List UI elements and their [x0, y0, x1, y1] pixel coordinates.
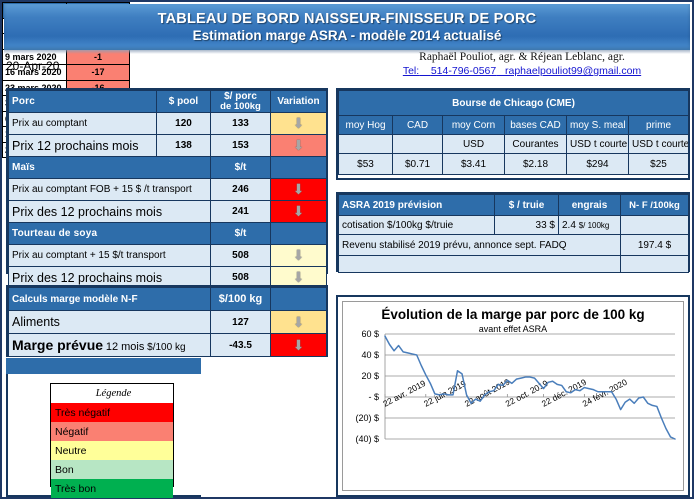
table-row-cme-values: $53 $0.71 $3.41 $2.18 $294 $25: [339, 154, 689, 175]
arrow-down-icon: ⬇: [293, 270, 305, 284]
arrow-down-icon: ⬇: [293, 182, 305, 196]
cme-header-moy-s-meal: moy S. meal: [567, 116, 629, 135]
asra-row-truie: 33 $: [495, 216, 559, 235]
marge-label-bold: Marge prévue: [12, 337, 103, 353]
col-pool: $ pool: [157, 91, 211, 113]
variation-cell: ⬇: [271, 201, 327, 223]
asra-row-nf-blank: [621, 216, 689, 235]
svg-text:22 déc. 2019: 22 déc. 2019: [540, 377, 588, 409]
legend-item: Bon: [51, 460, 173, 479]
mais-section-title: Maïs: [9, 157, 211, 179]
authors-label: Raphaël Pouliot, agr. & Réjean Leblanc, …: [354, 48, 690, 64]
legend-item: Très négatif: [51, 403, 173, 422]
table-row-cme-headers: moy Hog CAD moy Corn bases CAD moy S. me…: [339, 116, 689, 135]
asra-engrais-value: 2.4: [562, 220, 576, 231]
table-row: Prix au comptant FOB + 15 $ /t transport…: [9, 179, 327, 201]
asra-row-label: cotisation $/100kg $/truie: [339, 216, 495, 235]
asra-engrais-unit: $/ 100kg: [579, 221, 610, 230]
table-row-header-mais: Maïs $/t: [9, 157, 327, 179]
arrow-down-icon: ⬇: [293, 138, 305, 152]
row-label: Prix au comptant: [9, 113, 157, 135]
table-row-header-asra: ASRA 2019 prévision $ / truie engrais N-…: [339, 195, 689, 216]
chart-area: Évolution de la marge par porc de 100 kg…: [342, 301, 684, 491]
table-row: Aliments 127 ⬇: [9, 311, 327, 334]
calc-blank: [271, 288, 327, 311]
cme-value-cad: $0.71: [393, 154, 443, 175]
cme-value-prime: $25: [629, 154, 689, 175]
mais-unit: $/t: [211, 157, 271, 179]
phone-number[interactable]: 514-796-0567: [431, 65, 496, 77]
cme-value-moy-s-meal: $294: [567, 154, 629, 175]
svg-text:22 avr. 2019: 22 avr. 2019: [381, 378, 427, 409]
table-row: [339, 256, 689, 273]
report-date: 20-Apr-20: [6, 59, 206, 79]
row-label: Prix 12 prochains mois: [9, 135, 157, 157]
cme-title: Bourse de Chicago (CME): [339, 91, 689, 116]
cme-table: Bourse de Chicago (CME) moy Hog CAD moy …: [336, 88, 690, 180]
legend-item: Négatif: [51, 422, 173, 441]
legend-title-row: Légende: [51, 384, 173, 403]
svg-text:24 févr. 2020: 24 févr. 2020: [581, 377, 629, 409]
table-row-header-cme: Bourse de Chicago (CME): [339, 91, 689, 116]
row-porc-value: 133: [211, 113, 271, 135]
cme-sub-4: USD t courte: [567, 135, 629, 154]
soya-unit: $/t: [211, 223, 271, 245]
row-label-aliments: Aliments: [9, 311, 211, 334]
soya-blank: [271, 223, 327, 245]
row-label-marge: Marge prévue 12 mois $/100 kg: [9, 334, 211, 357]
arrow-down-icon: ⬇: [293, 338, 305, 352]
legend-item-tres-bon: Très bon: [51, 479, 173, 498]
mais-blank: [271, 157, 327, 179]
arrow-down-icon: ⬇: [293, 315, 305, 329]
table-row: Prix des 12 prochains mois 241 ⬇: [9, 201, 327, 223]
asra-revenue-value: 197.4 $: [621, 235, 689, 256]
variation-cell: ⬇: [271, 311, 327, 334]
svg-text:(20) $: (20) $: [355, 413, 379, 423]
arrow-down-icon: ⬇: [293, 116, 305, 130]
chart-title: Évolution de la marge par porc de 100 kg: [343, 307, 683, 322]
legend-item-negatif: Négatif: [51, 422, 173, 441]
col-variation: Variation: [271, 91, 327, 113]
table-row-header-soya: Tourteau de soya $/t: [9, 223, 327, 245]
row-pool-value: 138: [157, 135, 211, 157]
row-porc-value: 153: [211, 135, 271, 157]
chart-subtitle: avant effet ASRA: [343, 324, 683, 334]
table-row: cotisation $/100kg $/truie 33 $ 2.4 $/ 1…: [339, 216, 689, 235]
variation-cell: ⬇: [271, 113, 327, 135]
col-porc: $/ porc de 100kg: [211, 91, 271, 113]
marge-label-mid: 12 mois: [106, 341, 145, 353]
contact-link[interactable]: Tel: 514-796-0567 raphaelpouliot99@gmail…: [354, 64, 690, 78]
legend-item-bon: Bon: [51, 460, 173, 479]
header-banner: TABLEAU DE BORD NAISSEUR-FINISSEUR DE PO…: [4, 4, 690, 50]
asra-header-truie: $ / truie: [495, 195, 559, 216]
tel-label: Tel:: [403, 65, 419, 77]
marge-label-small: $/100 kg: [147, 342, 185, 353]
legend-blue-strip: [6, 358, 201, 374]
table-row: Prix au comptant 120 133 ⬇: [9, 113, 327, 135]
table-row-header-porc: Porc $ pool $/ porc de 100kg Variation: [9, 91, 327, 113]
contact-block: Raphaël Pouliot, agr. & Réjean Leblanc, …: [354, 48, 690, 82]
svg-text:(40) $: (40) $: [355, 434, 379, 444]
legend-item: Très bon: [51, 479, 173, 498]
cme-sub-2: USD: [443, 135, 505, 154]
porc-section-title: Porc: [9, 91, 157, 113]
svg-text:40 $: 40 $: [361, 350, 379, 360]
row-value-marge: -43.5: [211, 334, 271, 357]
cme-header-moy-hog: moy Hog: [339, 116, 393, 135]
legend-item-neutre: Neutre: [51, 441, 173, 460]
email-address[interactable]: raphaelpouliot99@gmail.com: [505, 65, 641, 77]
legend-title: Légende: [51, 384, 173, 403]
legend-box: Légende Très négatif Négatif Neutre Bon …: [50, 383, 174, 487]
table-row: Prix 12 prochains mois 138 153 ⬇: [9, 135, 327, 157]
asra-row-engrais: 2.4 $/ 100kg: [559, 216, 621, 235]
margin-chart-panel: Évolution de la marge par porc de 100 kg…: [336, 295, 690, 497]
cme-value-moy-corn: $3.41: [443, 154, 505, 175]
legend-item: Neutre: [51, 441, 173, 460]
legend-item-tres-negatif: Très négatif: [51, 403, 173, 422]
asra-blank-left: [339, 256, 621, 273]
cme-header-prime: prime: [629, 116, 689, 135]
row-value: 246: [211, 179, 271, 201]
variation-cell: ⬇: [271, 334, 327, 357]
table-row: Revenu stabilisé 2019 prévu, annonce sep…: [339, 235, 689, 256]
arrow-down-icon: ⬇: [293, 204, 305, 218]
porc-price-table: Porc $ pool $/ porc de 100kg Variation P…: [6, 88, 328, 274]
asra-table: ASRA 2019 prévision $ / truie engrais N-…: [336, 192, 690, 272]
row-label: Prix des 12 prochains mois: [9, 201, 211, 223]
asra-title: ASRA 2019 prévision: [339, 195, 495, 216]
soya-section-title: Tourteau de soya: [9, 223, 211, 245]
cme-sub-5: USD t courte: [629, 135, 689, 154]
asra-revenue-label: Revenu stabilisé 2019 prévu, annonce sep…: [339, 235, 621, 256]
row-pool-value: 120: [157, 113, 211, 135]
asra-header-engrais: engrais: [559, 195, 621, 216]
cme-header-cad: CAD: [393, 116, 443, 135]
cme-header-moy-corn: moy Corn: [443, 116, 505, 135]
svg-text:20 $: 20 $: [361, 371, 379, 381]
col-porc-sub: de 100kg: [214, 102, 267, 112]
row-label: Prix au comptant FOB + 15 $ /t transport: [9, 179, 211, 201]
cme-header-bases-cad: bases CAD: [505, 116, 567, 135]
cme-value-bases-cad: $2.18: [505, 154, 567, 175]
variation-cell: ⬇: [271, 245, 327, 267]
arrow-down-icon: ⬇: [293, 248, 305, 262]
dashboard-page: TABLEAU DE BORD NAISSEUR-FINISSEUR DE PO…: [0, 0, 694, 499]
variation-cell: ⬇: [271, 179, 327, 201]
table-row-cme-subs: USD Courantes USD t courte USD t courte: [339, 135, 689, 154]
row-value-aliments: 127: [211, 311, 271, 334]
variation-cell: ⬇: [271, 135, 327, 157]
calc-title: Calculs marge modèle N-F: [9, 288, 211, 311]
page-subtitle: Estimation marge ASRA - modèle 2014 actu…: [193, 28, 502, 44]
cme-sub-0: [339, 135, 393, 154]
svg-text:- $: - $: [368, 392, 379, 402]
row-value: 508: [211, 245, 271, 267]
table-row: Prix au comptant + 15 $/t transport 508 …: [9, 245, 327, 267]
page-title: TABLEAU DE BORD NAISSEUR-FINISSEUR DE PO…: [158, 11, 537, 27]
table-row: Marge prévue 12 mois $/100 kg -43.5 ⬇: [9, 334, 327, 357]
row-value: 241: [211, 201, 271, 223]
cme-sub-1: [393, 135, 443, 154]
row-label: Prix au comptant + 15 $/t transport: [9, 245, 211, 267]
asra-blank-right: [621, 256, 689, 273]
asra-header-nf: N- F /100kg: [621, 195, 689, 216]
cme-sub-3: Courantes: [505, 135, 567, 154]
margin-calc-table: Calculs marge modèle N-F $/100 kg Alimen…: [6, 285, 328, 357]
calc-unit: $/100 kg: [211, 288, 271, 311]
cme-value-moy-hog: $53: [339, 154, 393, 175]
table-row-header-calc: Calculs marge modèle N-F $/100 kg: [9, 288, 327, 311]
